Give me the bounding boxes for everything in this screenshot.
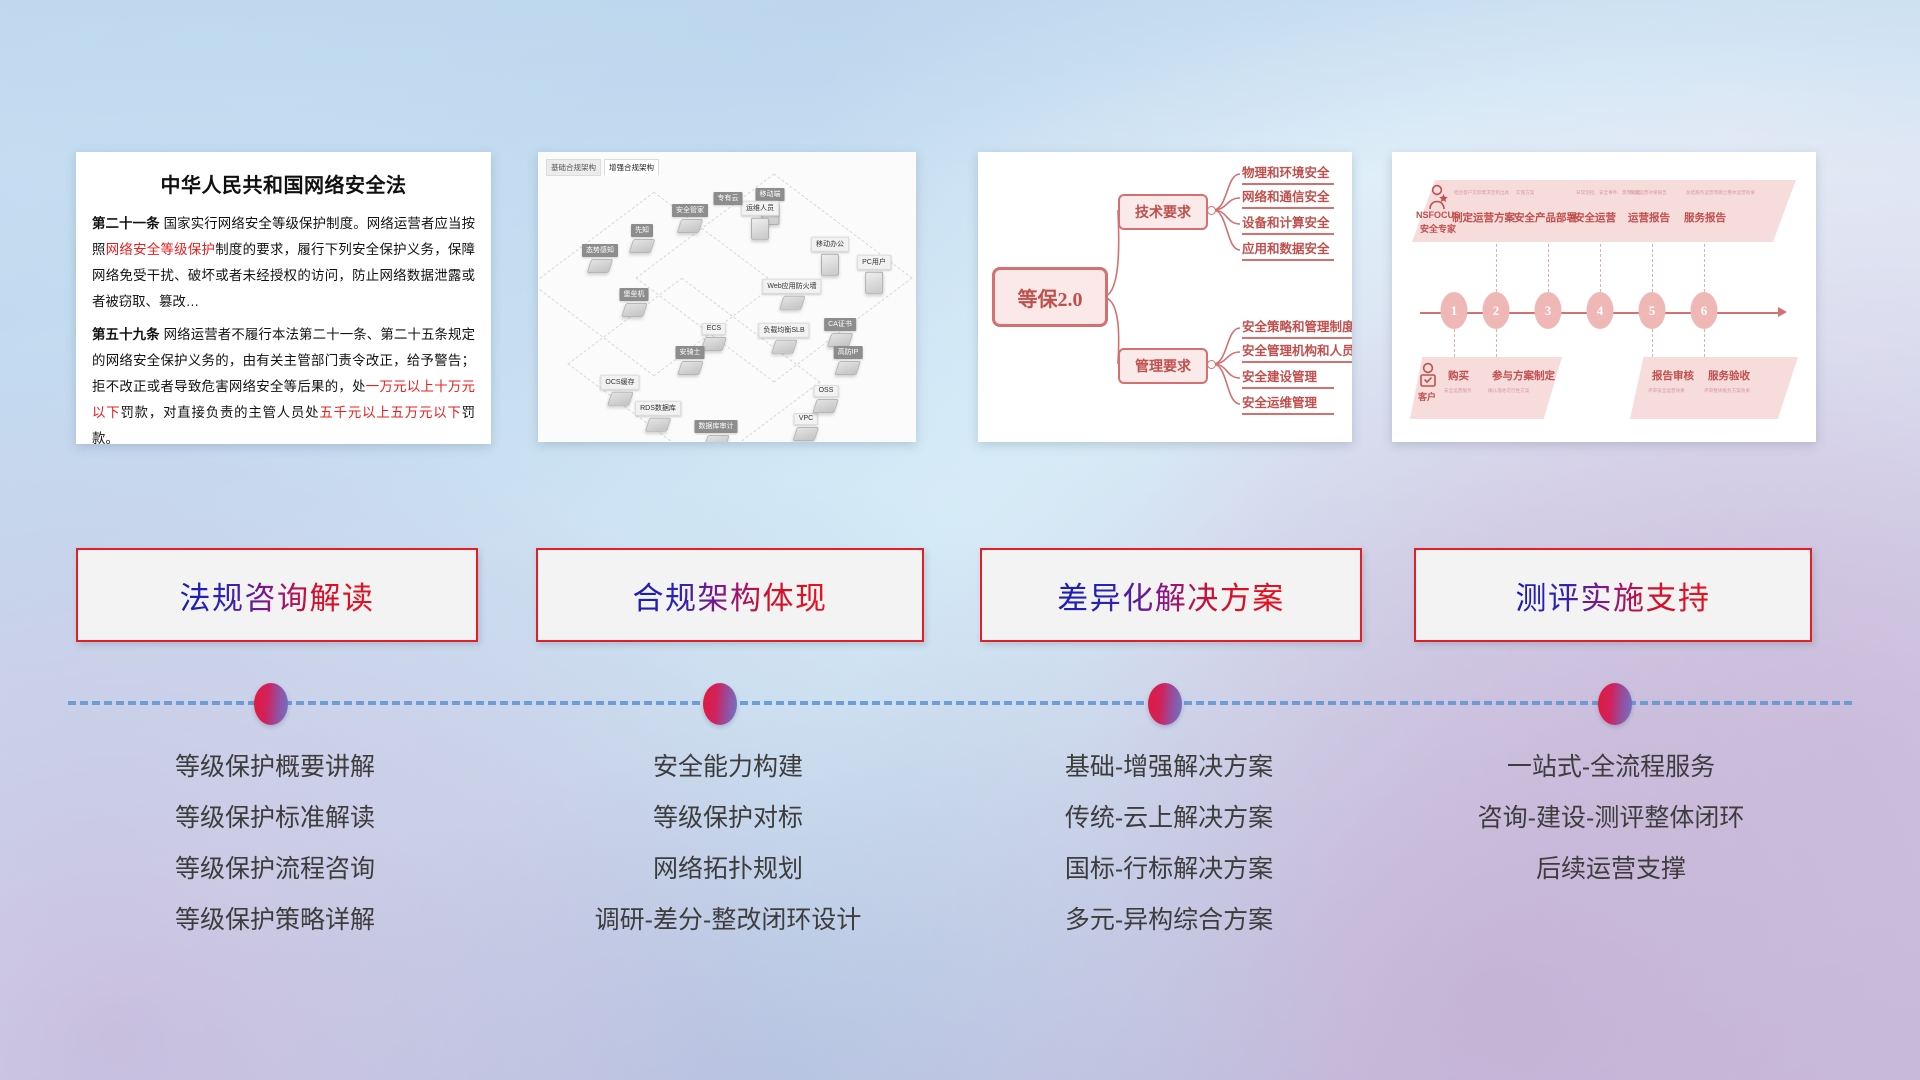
architecture-node-shape-icon <box>835 361 862 375</box>
law-paragraph-2: 第五十九条 网络运营者不履行本法第二十一条、第二十五条规定的网络安全保护义务的，… <box>92 322 475 444</box>
title-label-2: 合规架构体现 <box>633 573 828 618</box>
nsfocus-top-step-sub: 实施方案 <box>1516 190 1534 196</box>
timeline-dashed-line <box>68 701 1852 705</box>
detail-list-column-3: 基础-增强解决方案传统-云上解决方案国标-行标解决方案多元-异构综合方案 <box>980 742 1358 946</box>
architecture-node-shape-icon <box>587 259 614 273</box>
detail-item: 基础-增强解决方案 <box>980 742 1358 793</box>
nsfocus-top-step-label: 运营报告 <box>1628 210 1670 225</box>
architecture-node-shape-icon <box>677 219 704 233</box>
mindmap-root-node: 等保2.0 <box>992 267 1108 327</box>
mindmap-branch-management: 管理要求 <box>1118 348 1208 384</box>
nsfocus-connector-dash <box>1652 329 1654 357</box>
detail-item: 咨询-建设-测评整体闭环 <box>1414 793 1808 844</box>
nsfocus-process-diagram: NSFOCUS 安全专家 客户 123456结合客户实际需求定制出具制定运营方案… <box>1392 152 1816 442</box>
nsfocus-bottom-step-sub: 评审安全运营效果 <box>1648 388 1685 394</box>
architecture-tab-enhanced[interactable]: 增强合规架构 <box>604 159 659 176</box>
nsfocus-connector-dash <box>1600 244 1602 292</box>
nsfocus-top-step-label: 制定运营方案 <box>1452 210 1515 225</box>
mindmap-leaf: 设备和计算安全 <box>1242 212 1334 235</box>
nsfocus-connector-dash <box>1496 244 1498 292</box>
title-label-4: 测评实施支持 <box>1516 573 1711 618</box>
law-paragraph-1: 第二十一条 国家实行网络安全等级保护制度。网络运营者应当按照网络安全等级保护制度… <box>92 211 475 316</box>
architecture-node-label: OSS <box>814 385 839 397</box>
nsfocus-top-step-label: 安全运营 <box>1574 210 1616 225</box>
nsfocus-bottom-step-label: 报告审核 <box>1652 368 1694 383</box>
nsfocus-bottom-step-label: 服务验收 <box>1708 368 1750 383</box>
thumbnail-architecture-card[interactable]: 基础合规架构 增强合规架构 态势感知先知安全管家堡垒机ECS安骑士OCS缓存RD… <box>538 152 916 442</box>
title-label-1: 法规咨询解读 <box>180 573 375 618</box>
architecture-node-shape-icon <box>703 435 730 442</box>
architecture-node-label: 安全管家 <box>672 204 708 217</box>
nsfocus-bottom-step-label: 购买 <box>1448 368 1469 383</box>
mindmap-leaf: 物理和环境安全 <box>1242 162 1334 185</box>
architecture-node: 先知 <box>631 219 653 253</box>
title-label-3: 差异化解决方案 <box>1057 573 1285 618</box>
architecture-node: OSS <box>814 379 839 413</box>
detail-item: 多元-异构综合方案 <box>980 895 1358 946</box>
thumbnail-mindmap-card[interactable]: 等保2.0 技术要求 管理要求 物理和环境安全网络和通信安全设备和计算安全应用和… <box>978 152 1352 442</box>
architecture-node: 安全管家 <box>672 199 708 233</box>
architecture-node-shape-icon <box>645 417 672 431</box>
architecture-node: 态势感知 <box>582 239 618 273</box>
architecture-node: 专有云 <box>714 187 743 205</box>
architecture-node-label: 态势感知 <box>582 244 618 257</box>
nsfocus-connector-dash <box>1548 244 1550 292</box>
mindmap-leaf: 网络和通信安全 <box>1242 186 1334 209</box>
architecture-node-label: 移动办公 <box>811 236 849 251</box>
mindmap-collapse-dot-management[interactable] <box>1207 360 1216 369</box>
detail-list-row: 等级保护概要讲解等级保护标准解读等级保护流程咨询等级保护策略详解 安全能力构建等… <box>0 742 1920 862</box>
mindmap-leaf: 安全管理机构和人员 <box>1242 340 1352 363</box>
architecture-node-label: OCS缓存 <box>600 374 639 389</box>
detail-item: 等级保护概要讲解 <box>76 742 474 793</box>
architecture-node-shape-icon <box>607 391 634 405</box>
architecture-node-label: RDS数据库 <box>635 400 681 415</box>
mindmap: 等保2.0 技术要求 管理要求 物理和环境安全网络和通信安全设备和计算安全应用和… <box>978 152 1352 442</box>
nsfocus-step-number: 4 <box>1587 292 1614 329</box>
architecture-node: 安骑士 <box>676 341 705 375</box>
thumbnail-law-card[interactable]: 中华人民共和国网络安全法 第二十一条 国家实行网络安全等级保护制度。网络运营者应… <box>76 152 491 444</box>
nsfocus-top-step-sub: 结合客户实际需求定制出具 <box>1454 190 1509 196</box>
customer-person-icon <box>1418 362 1440 388</box>
detail-item: 等级保护策略详解 <box>76 895 474 946</box>
nsfocus-top-step-label: 服务报告 <box>1684 210 1726 225</box>
architecture-node-label: 负载均衡SLB <box>758 322 809 337</box>
mindmap-collapse-dot-technical[interactable] <box>1207 206 1216 215</box>
title-box-compliance-architecture[interactable]: 合规架构体现 <box>536 548 924 642</box>
detail-item: 等级保护标准解读 <box>76 793 474 844</box>
architecture-node-label: 先知 <box>631 224 653 237</box>
architecture-diagram: 基础合规架构 增强合规架构 态势感知先知安全管家堡垒机ECS安骑士OCS缓存RD… <box>538 152 916 442</box>
title-box-evaluation-support[interactable]: 测评实施支持 <box>1414 548 1812 642</box>
title-box-differentiated-solution[interactable]: 差异化解决方案 <box>980 548 1362 642</box>
architecture-node-label: 堡垒机 <box>620 288 649 301</box>
nsfocus-connector-dash <box>1704 329 1706 357</box>
architecture-node-shape-icon <box>793 427 820 441</box>
law-article-59-label: 第五十九条 <box>92 327 160 342</box>
mindmap-branch-technical: 技术要求 <box>1118 194 1208 230</box>
timeline-dot-1[interactable] <box>254 683 288 725</box>
mindmap-leaf: 安全建设管理 <box>1242 366 1334 389</box>
architecture-tab-basic[interactable]: 基础合规架构 <box>546 159 601 176</box>
thumbnail-row: 中华人民共和国网络安全法 第二十一条 国家实行网络安全等级保护制度。网络运营者应… <box>0 152 1920 450</box>
law-p2-highlight-2: 五千元以上五万元以下 <box>319 405 461 420</box>
nsfocus-bottom-step-sub: 评审整体服务方案效果 <box>1704 388 1750 394</box>
detail-item: 安全能力构建 <box>536 742 920 793</box>
nsfocus-bottom-step-sub: 确认落地可行性方案 <box>1488 388 1529 394</box>
law-article-21-label: 第二十一条 <box>92 216 160 231</box>
architecture-node: 数据库审计 <box>695 415 738 442</box>
architecture-node-label: CA证书 <box>824 318 856 331</box>
architecture-node-label: 运维人员 <box>741 200 779 215</box>
nsfocus-top-step-label: 安全产品部署 <box>1514 210 1577 225</box>
detail-list-column-4: 一站式-全流程服务咨询-建设-测评整体闭环后续运营支撑 <box>1414 742 1808 895</box>
detail-item: 调研-差分-整改闭环设计 <box>536 895 920 946</box>
detail-item: 一站式-全流程服务 <box>1414 742 1808 793</box>
timeline-dot-2[interactable] <box>703 683 737 725</box>
architecture-node: RDS数据库 <box>635 397 681 432</box>
nsfocus-step-number: 3 <box>1535 292 1562 329</box>
nsfocus-step-number: 6 <box>1691 292 1718 329</box>
architecture-node-shape-icon <box>771 339 798 353</box>
customer-label: 客户 <box>1418 390 1436 403</box>
mindmap-leaf: 安全策略和管理制度 <box>1242 316 1352 339</box>
architecture-node-label: ECS <box>702 323 726 335</box>
mindmap-leaf: 安全运维管理 <box>1242 392 1334 415</box>
detail-list-column-2: 安全能力构建等级保护对标网络拓扑规划调研-差分-整改闭环设计 <box>536 742 920 946</box>
nsfocus-connector-dash <box>1652 244 1654 292</box>
mindmap-leaf: 应用和数据安全 <box>1242 238 1334 261</box>
architecture-node-shape-icon <box>701 337 728 351</box>
architecture-node-shape-icon <box>813 399 840 413</box>
architecture-node: 堡垒机 <box>620 283 649 317</box>
architecture-node-label: 高防IP <box>834 346 863 359</box>
architecture-node-shape-icon <box>677 361 704 375</box>
architecture-node-shape-icon <box>821 253 839 275</box>
nsfocus-step-number: 5 <box>1639 292 1666 329</box>
detail-item: 等级保护流程咨询 <box>76 844 474 895</box>
nsfocus-bottom-step-sub: 安全运营服务 <box>1444 388 1472 394</box>
nsfocus-connector-dash <box>1496 329 1498 357</box>
architecture-node: 移动办公 <box>811 233 849 276</box>
detail-item: 国标-行标解决方案 <box>980 844 1358 895</box>
architecture-node: Web应用防火墙 <box>762 275 821 310</box>
architecture-node: OCS缓存 <box>600 371 639 406</box>
nsfocus-connector-dash <box>1454 329 1456 357</box>
architecture-node-label: 安骑士 <box>676 346 705 359</box>
architecture-node: ECS <box>702 317 726 351</box>
architecture-node-shape-icon <box>629 239 656 253</box>
architecture-node-shape-icon <box>865 271 883 293</box>
detail-item: 等级保护对标 <box>536 793 920 844</box>
architecture-node-label: 专有云 <box>714 192 743 205</box>
expert-person-icon <box>1426 184 1450 210</box>
detail-item: 网络拓扑规划 <box>536 844 920 895</box>
architecture-tabs[interactable]: 基础合规架构 增强合规架构 <box>546 159 659 176</box>
section-title-row: 法规咨询解读 合规架构体现 差异化解决方案 测评实施支持 <box>0 548 1920 644</box>
nsfocus-step-number: 2 <box>1483 292 1510 329</box>
nsfocus-step-number: 1 <box>1441 292 1468 329</box>
nsfocus-top-step-sub: 阶段运营效果报告 <box>1630 190 1667 196</box>
thumbnail-nsfocus-card[interactable]: NSFOCUS 安全专家 客户 123456结合客户实际需求定制出具制定运营方案… <box>1392 152 1816 442</box>
law-card-title: 中华人民共和国网络安全法 <box>76 169 491 198</box>
architecture-node: 运维人员 <box>741 197 779 240</box>
architecture-node-shape-icon <box>779 295 806 309</box>
law-p1-highlight: 网络安全等级保护 <box>106 242 216 257</box>
timeline-dot-3[interactable] <box>1148 683 1182 725</box>
detail-item: 传统-云上解决方案 <box>980 793 1358 844</box>
nsfocus-connector-dash <box>1704 244 1706 292</box>
architecture-node: 负载均衡SLB <box>758 319 809 354</box>
architecture-node: PC用户 <box>857 251 891 294</box>
timeline-dot-4[interactable] <box>1598 683 1632 725</box>
title-box-regulation-consulting[interactable]: 法规咨询解读 <box>76 548 478 642</box>
expert-label-line2: 安全专家 <box>1420 222 1456 235</box>
architecture-node-shape-icon <box>621 303 648 317</box>
architecture-node-label: VPC <box>794 413 818 425</box>
detail-list-column-1: 等级保护概要讲解等级保护标准解读等级保护流程咨询等级保护策略详解 <box>76 742 474 946</box>
nsfocus-top-step-sub: 总结服务运营周期之整体运营效果 <box>1686 190 1755 196</box>
nsfocus-bottom-step-label: 参与方案制定 <box>1492 368 1555 383</box>
detail-item: 后续运营支撑 <box>1414 844 1808 895</box>
law-p2-text-b: 罚款，对直接负责的主管人员处 <box>120 405 319 420</box>
architecture-node-label: 数据库审计 <box>695 420 738 433</box>
timeline-axis <box>0 683 1920 723</box>
architecture-node: 高防IP <box>834 341 863 375</box>
architecture-node-label: PC用户 <box>857 254 891 269</box>
architecture-node-label: Web应用防火墙 <box>762 278 821 293</box>
nsfocus-axis-arrow-icon <box>1778 307 1787 317</box>
architecture-node-shape-icon <box>751 217 769 239</box>
law-card-body: 第二十一条 国家实行网络安全等级保护制度。网络运营者应当按照网络安全等级保护制度… <box>76 211 491 444</box>
